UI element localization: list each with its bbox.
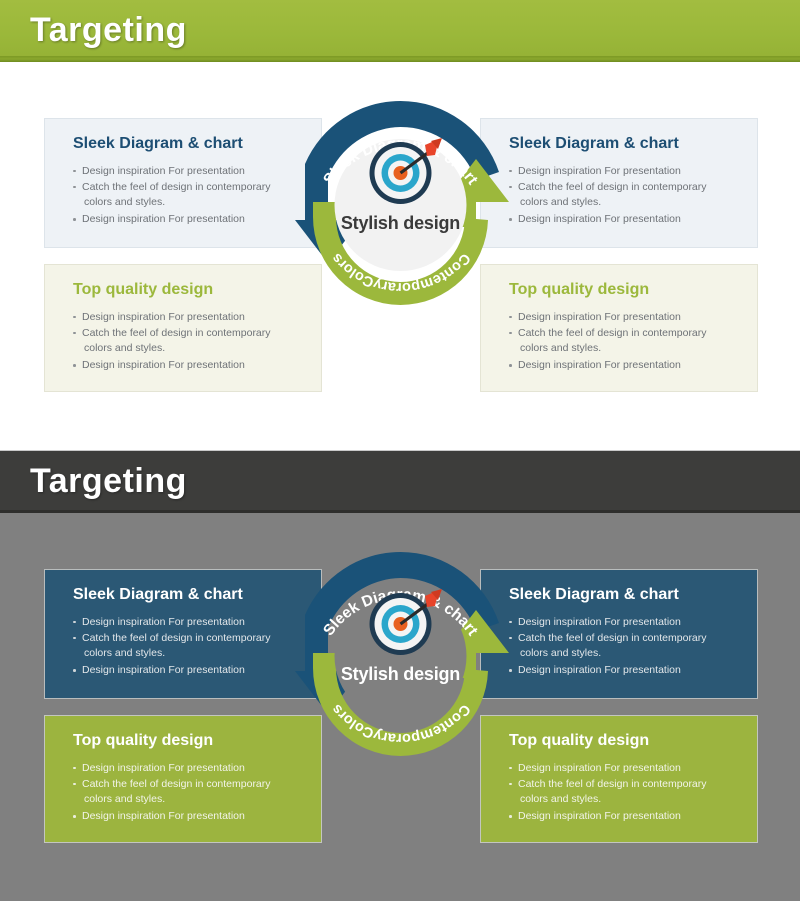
card-title: Sleek Diagram & chart [73, 586, 301, 604]
slide-body-light: Sleek Diagram & chart Design inspiration… [0, 62, 800, 450]
list-item: Design inspiration For presentation [509, 164, 737, 179]
cycle-diagram-svg: Sleek Diagram & chart ContemporaryColors [283, 77, 518, 327]
card-bullet-list: Design inspiration For presentation Catc… [73, 615, 301, 679]
list-item: Design inspiration For presentation [73, 663, 301, 678]
card-bullet-list: Design inspiration For presentation Catc… [509, 164, 737, 228]
list-item-line2: colors and styles. [82, 195, 301, 210]
list-item: Catch the feel of design in contemporary… [509, 180, 737, 210]
card-top-left[interactable]: Sleek Diagram & chart Design inspiration… [44, 569, 322, 699]
list-item-line2: colors and styles. [518, 646, 737, 661]
list-item: Design inspiration For presentation [509, 310, 737, 325]
center-label: Stylish design [283, 664, 518, 685]
list-item-line2: colors and styles. [518, 195, 737, 210]
list-item-line1: Catch the feel of design in contemporary [518, 327, 707, 339]
card-title: Top quality design [509, 281, 737, 299]
list-item-line2: colors and styles. [518, 341, 737, 356]
list-item: Catch the feel of design in contemporary… [509, 326, 737, 356]
center-label: Stylish design [283, 213, 518, 234]
list-item: Design inspiration For presentation [73, 164, 301, 179]
list-item: Catch the feel of design in contemporary… [73, 326, 301, 356]
card-top-right[interactable]: Sleek Diagram & chart Design inspiration… [480, 569, 758, 699]
list-item: Design inspiration For presentation [73, 615, 301, 630]
list-item: Design inspiration For presentation [73, 761, 301, 776]
card-top-left[interactable]: Sleek Diagram & chart Design inspiration… [44, 118, 322, 248]
card-bullet-list: Design inspiration For presentation Catc… [73, 164, 301, 228]
list-item: Catch the feel of design in contemporary… [509, 777, 737, 807]
list-item: Design inspiration For presentation [509, 761, 737, 776]
list-item: Design inspiration For presentation [509, 615, 737, 630]
list-item: Design inspiration For presentation [73, 358, 301, 373]
list-item-line1: Catch the feel of design in contemporary [82, 632, 271, 644]
list-item: Design inspiration For presentation [73, 212, 301, 227]
list-item-line1: Catch the feel of design in contemporary [82, 181, 271, 193]
list-item: Catch the feel of design in contemporary… [73, 180, 301, 210]
slide-dark: Targeting Sleek Diagram & chart Design i… [0, 450, 800, 901]
card-title: Sleek Diagram & chart [73, 135, 301, 153]
card-bullet-list: Design inspiration For presentation Catc… [73, 761, 301, 825]
card-bullet-list: Design inspiration For presentation Catc… [73, 310, 301, 374]
card-bottom-right[interactable]: Top quality design Design inspiration Fo… [480, 715, 758, 843]
card-bullet-list: Design inspiration For presentation Catc… [509, 761, 737, 825]
card-title: Sleek Diagram & chart [509, 586, 737, 604]
cycle-diagram-svg: Sleek Diagram & chart ContemporaryColors [283, 528, 518, 778]
list-item: Design inspiration For presentation [73, 310, 301, 325]
list-item-line2: colors and styles. [82, 341, 301, 356]
slide-header-light: Targeting [0, 0, 800, 62]
list-item: Design inspiration For presentation [509, 809, 737, 824]
card-title: Sleek Diagram & chart [509, 135, 737, 153]
list-item-line1: Catch the feel of design in contemporary [518, 778, 707, 790]
card-bottom-left[interactable]: Top quality design Design inspiration Fo… [44, 715, 322, 843]
list-item-line2: colors and styles. [518, 792, 737, 807]
card-bullet-list: Design inspiration For presentation Catc… [509, 615, 737, 679]
card-bullet-list: Design inspiration For presentation Catc… [509, 310, 737, 374]
list-item: Catch the feel of design in contemporary… [73, 631, 301, 661]
card-title: Top quality design [509, 732, 737, 750]
list-item: Catch the feel of design in contemporary… [73, 777, 301, 807]
slide-header-dark: Targeting [0, 451, 800, 513]
card-title: Top quality design [73, 281, 301, 299]
list-item: Design inspiration For presentation [509, 663, 737, 678]
list-item-line1: Catch the feel of design in contemporary [82, 327, 271, 339]
page-title: Targeting [30, 11, 187, 50]
card-title: Top quality design [73, 732, 301, 750]
slide-body-dark: Sleek Diagram & chart Design inspiration… [0, 513, 800, 901]
list-item-line1: Catch the feel of design in contemporary [518, 632, 707, 644]
cycle-diagram-dark: Sleek Diagram & chart ContemporaryColors… [283, 528, 518, 778]
card-top-right[interactable]: Sleek Diagram & chart Design inspiration… [480, 118, 758, 248]
list-item-line1: Catch the feel of design in contemporary [82, 778, 271, 790]
card-bottom-right[interactable]: Top quality design Design inspiration Fo… [480, 264, 758, 392]
list-item-line1: Catch the feel of design in contemporary [518, 181, 707, 193]
list-item-line2: colors and styles. [82, 792, 301, 807]
page-title: Targeting [30, 462, 187, 501]
card-bottom-left[interactable]: Top quality design Design inspiration Fo… [44, 264, 322, 392]
list-item: Design inspiration For presentation [509, 358, 737, 373]
list-item: Design inspiration For presentation [509, 212, 737, 227]
list-item-line2: colors and styles. [82, 646, 301, 661]
list-item: Catch the feel of design in contemporary… [509, 631, 737, 661]
slide-light: Targeting Sleek Diagram & chart Design i… [0, 0, 800, 450]
list-item: Design inspiration For presentation [73, 809, 301, 824]
cycle-diagram-light: Sleek Diagram & chart ContemporaryColors [283, 77, 518, 327]
